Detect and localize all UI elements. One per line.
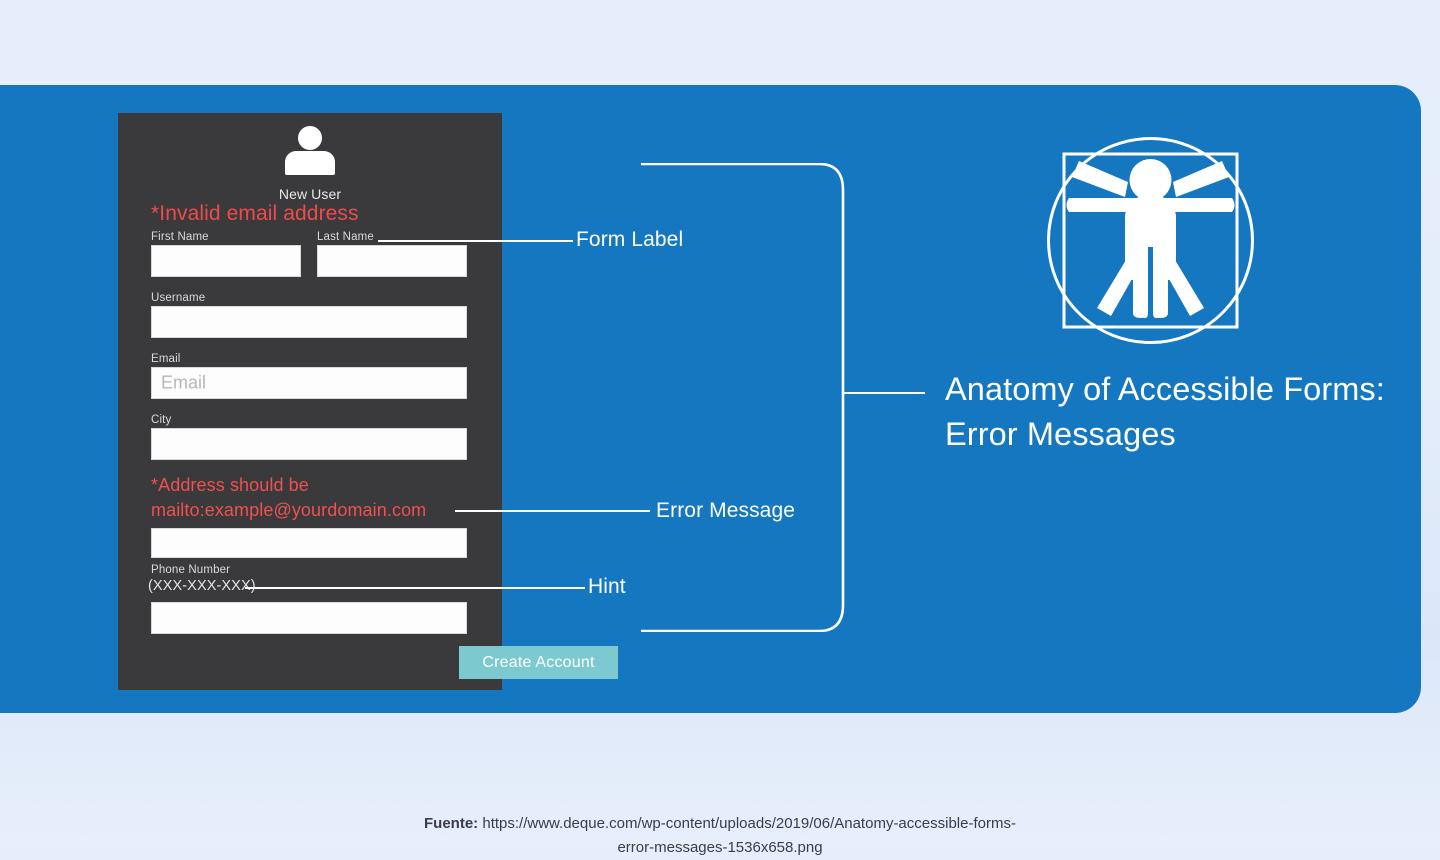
email-placeholder: Email — [161, 373, 206, 394]
bracket-stem-line — [843, 392, 925, 394]
input-first-name[interactable] — [151, 245, 301, 277]
banner-title-line2: Error Messages — [945, 412, 1405, 457]
input-phone-number[interactable] — [151, 602, 467, 634]
label-email: Email — [151, 353, 181, 365]
label-username: Username — [151, 292, 205, 304]
callout-form-label: Form Label — [576, 228, 683, 252]
input-username[interactable] — [151, 306, 467, 338]
caption-line2: error-messages-1536x658.png — [0, 836, 1440, 860]
signup-form-panel: New User *Invalid email address First Na… — [118, 113, 502, 690]
callout-hint: Hint — [588, 575, 626, 599]
input-address[interactable] — [151, 528, 467, 558]
form-heading: New User — [118, 186, 502, 202]
source-caption: Fuente: https://www.deque.com/wp-content… — [0, 812, 1440, 860]
input-last-name[interactable] — [317, 245, 467, 277]
banner-title: Anatomy of Accessible Forms: Error Messa… — [945, 367, 1405, 457]
caption-line1: Fuente: https://www.deque.com/wp-content… — [0, 812, 1440, 836]
form-header: New User — [118, 126, 502, 202]
caption-prefix: Fuente: — [424, 815, 478, 832]
address-error-line2: mailto:example@yourdomain.com — [151, 498, 426, 523]
callout-error-message: Error Message — [656, 499, 795, 523]
label-phone-number: Phone Number — [151, 564, 230, 576]
input-email[interactable]: Email — [151, 367, 467, 399]
label-last-name: Last Name — [317, 231, 374, 243]
create-account-button[interactable]: Create Account — [459, 646, 618, 679]
leader-line-form-label — [378, 240, 573, 242]
leader-line-error-message — [455, 510, 650, 512]
vitruvian-man-icon — [1045, 135, 1256, 346]
blue-banner-card: New User *Invalid email address First Na… — [0, 85, 1421, 713]
input-city[interactable] — [151, 428, 467, 460]
address-error-line1: *Address should be — [151, 473, 309, 498]
label-first-name: First Name — [151, 231, 209, 243]
global-error-message: *Invalid email address — [151, 202, 359, 226]
leader-line-hint — [245, 587, 585, 589]
hint-phone-format: (XXX-XXX-XXX) — [148, 578, 256, 594]
caption-url-line1: https://www.deque.com/wp-content/uploads… — [482, 815, 1016, 832]
user-icon — [282, 126, 338, 180]
label-city: City — [151, 414, 171, 426]
banner-title-line1: Anatomy of Accessible Forms: — [945, 367, 1405, 412]
